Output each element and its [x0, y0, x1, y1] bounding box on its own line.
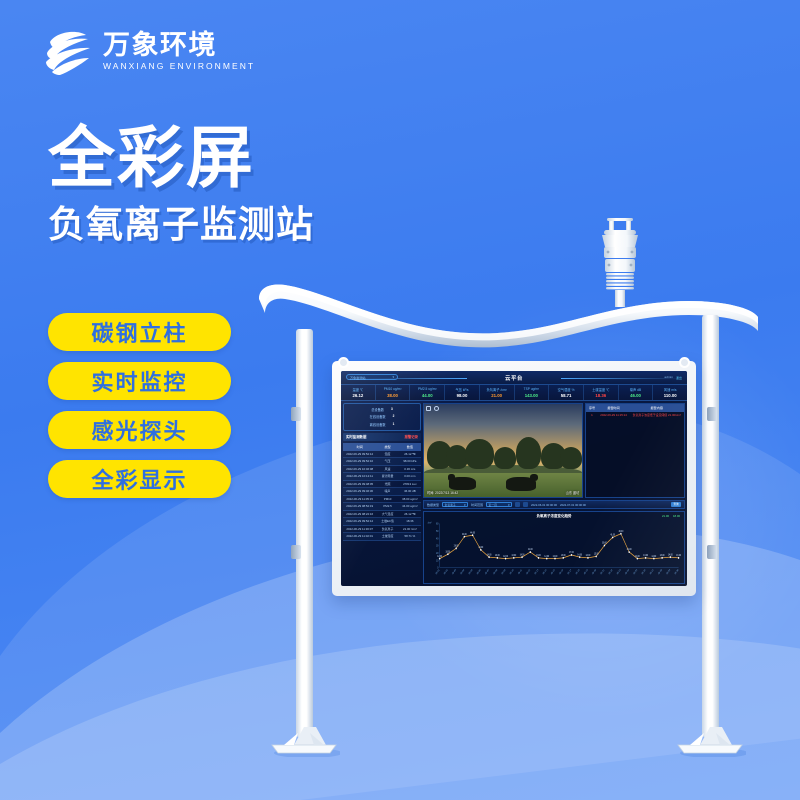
scene-cattle	[449, 477, 476, 489]
svg-text:06-04: 06-04	[460, 569, 465, 576]
svg-text:06-14: 06-14	[543, 569, 548, 576]
pole-bracket-right-lower	[707, 545, 717, 559]
metric-label: 噪声 dB	[630, 387, 641, 392]
svg-text:06-15: 06-15	[551, 569, 556, 576]
metric-cell: 气压 kPa 98.00	[445, 385, 480, 400]
cell-time: 2022-06-29 09:52:12	[343, 518, 376, 525]
svg-text:06-16: 06-16	[559, 569, 564, 576]
date-start[interactable]: 2022-06-01 00:00:00	[531, 503, 557, 507]
table-row: 2022-06-29 11:05:15PM1038.00 ug/m³	[343, 496, 421, 504]
metric-cell: 温度 ℃ 26.12	[341, 385, 376, 400]
right-panel: 时间: 2022/7/13 16:42 山东 潍坊 序号 报警时间 报警内容 1	[423, 401, 687, 586]
fullscreen-icon[interactable]	[426, 406, 431, 411]
table-row: 2022-06-29 10:12:11累计雨量0.00 mm	[343, 473, 421, 481]
svg-text:14.00: 14.00	[577, 554, 582, 556]
cell-type: 光照	[376, 481, 398, 488]
svg-text:06-09: 06-09	[502, 569, 507, 576]
metric-value: 26.12	[352, 393, 363, 398]
stat-key: 总设备数	[371, 407, 384, 412]
svg-text:06-26: 06-26	[642, 569, 647, 576]
support-pole-right	[702, 315, 719, 737]
svg-text:13.00: 13.00	[660, 555, 665, 557]
table-body: 2022-06-29 09:52:12温度26.12 ℃2022-06-29 0…	[343, 451, 421, 541]
brand-name-en: WANXIANG ENVIRONMENT	[103, 60, 255, 73]
stat-value: 3	[391, 407, 393, 412]
swirl-globe-logo-icon	[42, 26, 94, 78]
metric-value: 21.00	[491, 393, 502, 398]
svg-text:06-12: 06-12	[526, 569, 531, 576]
svg-text:13.00: 13.00	[586, 555, 591, 557]
data-type-select[interactable]: 负氧离子 ▾	[442, 502, 468, 508]
svg-text:06-21: 06-21	[600, 569, 605, 576]
svg-text:06-07: 06-07	[485, 569, 490, 576]
camera-toolbar	[426, 406, 439, 411]
trend-chart: 负氧离子浓度变化趋势 21.00 18.00 0102030405060/cm³…	[423, 511, 685, 584]
cell-type: 温度	[376, 451, 398, 458]
svg-text:06-05: 06-05	[469, 569, 474, 576]
svg-text:46.00: 46.00	[619, 531, 624, 533]
cell-type: 噪声	[376, 488, 398, 495]
svg-text:41.00: 41.00	[610, 534, 615, 536]
svg-text:21.00: 21.00	[627, 549, 632, 551]
cell-value: 0.36 m/s	[399, 466, 421, 473]
svg-text:30: 30	[436, 544, 439, 547]
metric-cell: 空气湿度 % 58.71	[549, 385, 584, 400]
cell-type: PM2.5	[376, 503, 398, 510]
metric-value: 143.00	[525, 393, 538, 398]
svg-text:13.00: 13.00	[561, 555, 566, 557]
svg-text:06-28: 06-28	[658, 569, 663, 576]
metric-cell: PM2.5 ug/m³ 44.00	[410, 385, 445, 400]
stat-row: 在线设备数 2	[348, 414, 416, 419]
stat-key: 离线设备数	[370, 422, 386, 427]
svg-text:18.00: 18.00	[446, 551, 451, 553]
alarm-column-index: 序号	[586, 404, 597, 412]
metric-cell: 土壤温度 ℃ 18.36	[584, 385, 619, 400]
svg-text:06-20: 06-20	[592, 569, 597, 576]
cell-value: 27813 Lux	[399, 481, 421, 488]
svg-text:06-18: 06-18	[576, 569, 581, 576]
alarm-table-header: 序号 报警时间 报警内容	[586, 404, 684, 412]
svg-text:44.00: 44.00	[470, 532, 475, 534]
time-range-label: 时间范围	[471, 503, 483, 507]
svg-text:06-13: 06-13	[535, 569, 540, 576]
column-header-value: 数值	[399, 443, 421, 451]
metric-label: 空气湿度 %	[558, 387, 575, 392]
date-end[interactable]: 2022-07-01 00:00:00	[560, 503, 586, 507]
cell-type: 负氧离子	[376, 526, 398, 533]
user-name: admin	[664, 375, 672, 380]
svg-text:12.00: 12.00	[553, 556, 558, 558]
feature-badge: 实时监控	[48, 362, 231, 400]
cell-time: 2022-06-29 09:52:12	[343, 451, 376, 458]
scene-cattle	[506, 477, 536, 490]
station-select[interactable]: 万象监测站 ▾	[346, 374, 398, 380]
metric-value: 38.00	[387, 393, 398, 398]
svg-text:17.00: 17.00	[569, 552, 574, 554]
feature-badge: 感光探头	[48, 411, 231, 449]
cell-time: 2022-06-29 11:30:07	[343, 526, 376, 533]
alarm-column-time: 报警时间	[598, 404, 630, 412]
alarm-content: 负氧离子浓度低于设定阈值 21.00/cm³	[629, 412, 684, 419]
svg-text:06-19: 06-19	[584, 569, 589, 576]
screen-body: 总设备数 3 在线设备数 2 离线设备数 1 实时监测数据	[341, 401, 687, 586]
metric-label: 温度 ℃	[353, 387, 364, 392]
feature-badge-list: 碳钢立柱 实时监控 感光探头 全彩显示	[48, 313, 231, 498]
svg-text:12.00: 12.00	[544, 556, 549, 558]
svg-text:06-29: 06-29	[666, 569, 671, 576]
metric-cell: TSP ug/m³ 143.00	[515, 385, 550, 400]
feature-badge: 碳钢立柱	[48, 313, 231, 351]
cell-time: 2022-06-29 08:22:16	[343, 511, 376, 518]
legend-value-2: 18.00	[673, 514, 680, 518]
svg-text:12.00: 12.00	[437, 556, 442, 558]
cell-value: 0.00 mm	[399, 473, 421, 480]
svg-text:15.00: 15.00	[594, 553, 599, 555]
cell-time: 2022-06-29 11:05:15	[343, 496, 376, 503]
table-row: 2022-06-29 08:52:19PM2.544.00 ug/m³	[343, 503, 421, 511]
svg-text:12.00: 12.00	[652, 556, 657, 558]
svg-text:13.00: 13.00	[536, 555, 541, 557]
svg-text:60: 60	[436, 522, 439, 525]
cell-type: 大气温度	[376, 511, 398, 518]
cell-type: 气压	[376, 458, 398, 465]
alarm-time: 2022-06-29 11:15:14	[598, 412, 630, 419]
svg-text:06-17: 06-17	[567, 569, 572, 576]
svg-text:/cm³: /cm³	[428, 521, 432, 524]
base-plate-left	[268, 727, 340, 757]
svg-text:40: 40	[436, 537, 439, 540]
column-header-time: 时间	[343, 443, 376, 451]
metric-value: 44.00	[422, 393, 433, 398]
svg-text:14.00: 14.00	[487, 554, 492, 556]
base-plate-right	[674, 727, 746, 757]
cell-time: 2022-06-29 09:48:05	[343, 481, 376, 488]
metric-value: 110.00	[664, 393, 677, 398]
svg-text:06-27: 06-27	[650, 569, 655, 576]
alarm-index: 1	[586, 412, 597, 419]
cell-time: 2022-06-29 09:52:10	[343, 458, 376, 465]
cell-type: PM10	[376, 496, 398, 503]
chart-view-bar-icon[interactable]	[523, 502, 528, 507]
table-row: 2022-06-29 10:46:08风速0.36 m/s	[343, 466, 421, 474]
stat-value: 1	[393, 422, 395, 427]
device-stats-card: 总设备数 3 在线设备数 2 离线设备数 1	[343, 403, 421, 431]
svg-text:21.00: 21.00	[528, 549, 533, 551]
data-type-label: 数据类型	[427, 503, 439, 507]
cell-value: 26.12 ℃	[399, 511, 421, 518]
cabinet-eyelet-right	[679, 357, 690, 368]
metric-strip: 温度 ℃ 26.12 PM10 ug/m³ 38.00 PM2.5 ug/m³ …	[341, 384, 687, 401]
svg-text:06-23: 06-23	[617, 569, 622, 576]
query-button[interactable]: 查询	[671, 502, 681, 507]
chevron-down-icon: ▾	[464, 503, 465, 507]
cell-type: 土壤EC值	[376, 518, 398, 525]
metric-label: 气压 kPa	[455, 387, 468, 392]
pole-bracket-left-upper	[291, 407, 301, 421]
camera-and-alarm-row: 时间: 2022/7/13 16:42 山东 潍坊 序号 报警时间 报警内容 1	[423, 403, 685, 498]
data-type-value: 负氧离子	[445, 503, 456, 507]
led-display-cabinet: 云平台 万象监测站 ▾ admin 退出 温度 ℃ 26.12 PM10 ug/…	[332, 361, 696, 596]
alarm-records-link[interactable]: 报警记录	[404, 434, 418, 439]
metric-cell: 风速 m/s 110.00	[653, 385, 687, 400]
cell-type: 风速	[376, 466, 398, 473]
chart-control-bar: 数据类型 负氧离子 ▾ 时间范围 近一月 ▾ 2022-06-01 00:00:…	[423, 500, 685, 509]
svg-text:20: 20	[436, 552, 439, 555]
cell-value: 18.36	[399, 518, 421, 525]
metric-value: 58.71	[561, 393, 572, 398]
scene-tree	[494, 447, 516, 469]
svg-text:06-10: 06-10	[510, 569, 515, 576]
svg-text:10: 10	[436, 559, 439, 562]
svg-text:06-02: 06-02	[444, 569, 449, 576]
metric-value: 46.00	[630, 393, 641, 398]
metric-value: 18.36	[595, 393, 606, 398]
brand-logo: 万象环境 WANXIANG ENVIRONMENT	[42, 26, 255, 78]
data-panel-title: 实时监测数据	[346, 434, 366, 439]
svg-text:06-11: 06-11	[518, 569, 523, 576]
chart-view-line-icon[interactable]	[515, 502, 520, 507]
curved-canopy-beam	[255, 277, 760, 351]
logout-button[interactable]: 退出	[676, 375, 682, 380]
station-select-value: 万象监测站	[350, 375, 365, 380]
camera-timestamp: 时间: 2022/7/13 16:42	[427, 490, 458, 495]
table-row: 2022-06-29 09:46:30噪声46.00 dB	[343, 488, 421, 496]
feature-badge: 全彩显示	[48, 460, 231, 498]
camera-feed[interactable]: 时间: 2022/7/13 16:42 山东 潍坊	[423, 403, 583, 498]
svg-text:13.00: 13.00	[643, 555, 648, 557]
legend-value-1: 21.00	[662, 514, 669, 518]
monitoring-station-product: 云平台 万象监测站 ▾ admin 退出 温度 ℃ 26.12 PM10 ug/…	[255, 215, 775, 785]
cell-type: 土壤湿度	[376, 533, 398, 540]
cell-time: 2022-06-29 10:12:11	[343, 473, 376, 480]
svg-text:13.00: 13.00	[511, 555, 516, 557]
pole-bracket-left-lower	[291, 545, 301, 559]
metric-label: PM2.5 ug/m³	[418, 387, 437, 391]
chevron-down-icon: ▾	[508, 503, 509, 507]
stat-row: 总设备数 3	[348, 407, 416, 412]
stat-key: 在线设备数	[370, 414, 386, 419]
metric-label: 土壤温度 ℃	[592, 387, 609, 392]
cell-value: 58.71 %	[399, 533, 421, 540]
cell-time: 2022-06-29 09:46:30	[343, 488, 376, 495]
metric-label: PM10 ug/m³	[384, 387, 402, 391]
alarm-column-content: 报警内容	[629, 404, 684, 412]
table-row: 2022-06-29 09:52:10气压98.00 kPa	[343, 458, 421, 466]
stat-value: 2	[393, 414, 395, 419]
svg-text:26.00: 26.00	[454, 545, 459, 547]
cell-value: 98.00 kPa	[399, 458, 421, 465]
cell-value: 44.00 ug/m³	[399, 503, 421, 510]
alarm-row: 1 2022-06-29 11:15:14 负氧离子浓度低于设定阈值 21.00…	[586, 412, 684, 419]
alarm-panel: 序号 报警时间 报警内容 1 2022-06-29 11:15:14 负氧离子浓…	[585, 403, 685, 498]
svg-text:13.00: 13.00	[495, 555, 500, 557]
scene-tree	[465, 439, 493, 469]
cell-value: 21.00 /cm³	[399, 526, 421, 533]
table-row: 2022-06-29 09:48:05光照27813 Lux	[343, 481, 421, 489]
svg-text:50: 50	[436, 530, 439, 533]
column-header-type: 类型	[376, 443, 398, 451]
svg-text:24.00: 24.00	[479, 547, 484, 549]
svg-text:06-03: 06-03	[452, 569, 457, 576]
svg-text:06-08: 06-08	[493, 569, 498, 576]
cell-value: 26.12 ℃	[399, 451, 421, 458]
svg-text:06-30: 06-30	[675, 569, 680, 576]
metric-label: TSP ug/m³	[524, 387, 539, 391]
led-screen: 云平台 万象监测站 ▾ admin 退出 温度 ℃ 26.12 PM10 ug/…	[341, 371, 687, 586]
table-row: 2022-06-29 09:52:12土壤EC值18.36	[343, 518, 421, 526]
table-row: 2022-06-29 08:22:16大气温度26.12 ℃	[343, 511, 421, 519]
metric-cell: 噪声 dB 46.00	[619, 385, 654, 400]
table-row: 2022-06-29 11:02:01土壤湿度58.71 %	[343, 533, 421, 541]
svg-text:12.00: 12.00	[503, 556, 508, 558]
table-row: 2022-06-29 09:52:12温度26.12 ℃	[343, 451, 421, 459]
metric-cell: 负氧离子 /cm³ 21.00	[480, 385, 515, 400]
left-panel: 总设备数 3 在线设备数 2 离线设备数 1 实时监测数据	[341, 401, 423, 586]
headline-title: 全彩屏	[48, 125, 314, 192]
chart-legend: 21.00 18.00	[662, 514, 680, 518]
svg-text:06-22: 06-22	[609, 569, 614, 576]
brand-text: 万象环境 WANXIANG ENVIRONMENT	[103, 31, 255, 73]
stat-row: 离线设备数 1	[348, 422, 416, 427]
metric-value: 98.00	[457, 393, 468, 398]
table-row: 2022-06-29 11:30:07负氧离子21.00 /cm³	[343, 526, 421, 534]
scene-tree	[516, 437, 541, 469]
svg-text:14.00: 14.00	[520, 554, 525, 556]
cell-time: 2022-06-29 11:02:01	[343, 533, 376, 540]
svg-text:13.00: 13.00	[676, 555, 681, 557]
screen-header: 云平台 万象监测站 ▾ admin 退出	[341, 371, 687, 384]
time-range-value: 近一月	[489, 503, 497, 507]
svg-text:42.00: 42.00	[462, 534, 467, 536]
metric-label: 风速 m/s	[664, 387, 677, 392]
camera-location: 山东 潍坊	[566, 490, 580, 495]
scene-tree	[560, 447, 582, 469]
svg-text:06-24: 06-24	[625, 569, 630, 576]
chart-canvas: 0102030405060/cm³12.0006-0118.0006-0226.…	[426, 519, 682, 582]
time-range-select[interactable]: 近一月 ▾	[486, 502, 512, 508]
table-header: 时间 类型 数值	[343, 443, 421, 451]
cell-value: 46.00 dB	[399, 488, 421, 495]
metric-cell: PM10 ug/m³ 38.00	[376, 385, 411, 400]
data-panel-header: 实时监测数据 报警记录	[343, 433, 421, 441]
cell-value: 38.00 ug/m³	[399, 496, 421, 503]
chevron-down-icon: ▾	[392, 375, 394, 379]
brand-name-cn: 万象环境	[103, 31, 255, 60]
cell-time: 2022-06-29 08:52:19	[343, 503, 376, 510]
cabinet-eyelet-left	[338, 357, 349, 368]
snapshot-icon[interactable]	[434, 406, 439, 411]
cell-time: 2022-06-29 10:46:08	[343, 466, 376, 473]
user-area: admin 退出	[664, 375, 682, 380]
svg-text:30.00: 30.00	[602, 543, 607, 545]
cell-type: 累计雨量	[376, 473, 398, 480]
support-pole-left	[296, 329, 313, 737]
svg-text:14.00: 14.00	[668, 554, 673, 556]
metric-label: 负氧离子 /cm³	[487, 387, 507, 392]
realtime-data-table: 时间 类型 数值 2022-06-29 09:52:12温度26.12 ℃202…	[343, 443, 421, 584]
pole-bracket-right-upper	[707, 407, 717, 421]
svg-text:06-25: 06-25	[633, 569, 638, 576]
svg-text:06-06: 06-06	[477, 569, 482, 576]
svg-text:12.00: 12.00	[635, 556, 640, 558]
